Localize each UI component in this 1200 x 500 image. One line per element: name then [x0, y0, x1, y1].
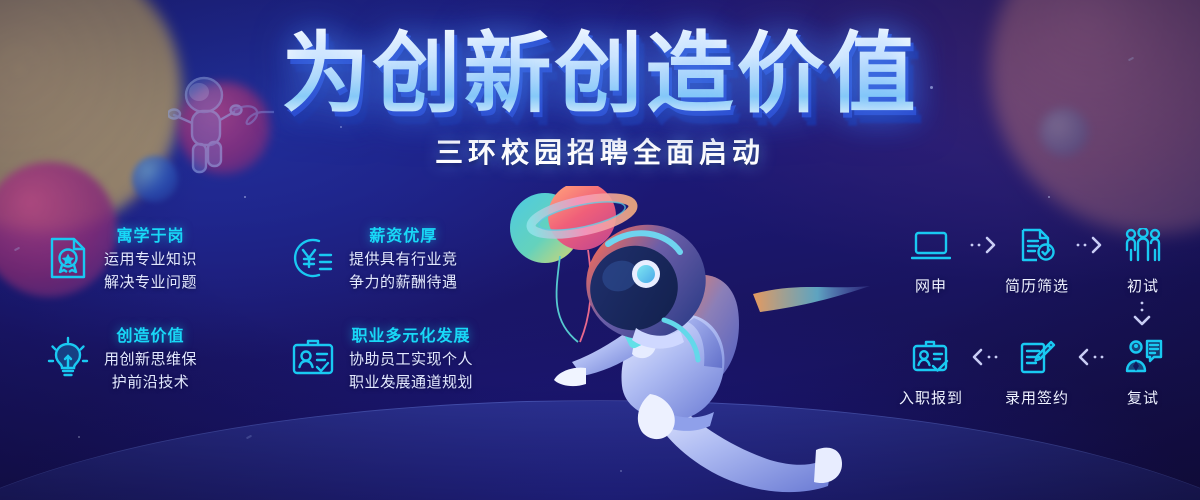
chevron-left-dots-icon — [966, 336, 1002, 366]
feature-heading: 薪资优厚 — [369, 222, 437, 246]
feature-item: 薪资优厚 提供具有行业竞 争力的薪酬待遇 — [289, 222, 504, 294]
process-step-online-application: 网申 — [896, 224, 966, 296]
star — [78, 436, 80, 438]
yen-salary-icon — [289, 234, 337, 282]
star — [1048, 196, 1050, 198]
feature-heading: 职业多元化发展 — [352, 322, 471, 346]
feature-line: 提供具有行业竞 — [349, 249, 458, 272]
feature-line: 护前沿技术 — [112, 372, 190, 395]
process-step-label: 简历筛选 — [1005, 275, 1069, 296]
badge-person-check-icon — [909, 336, 953, 378]
recruitment-banner: 为创新创造价值 三环校园招聘全面启动 寓学于岗 运用专业知识 解决专业问题 — [0, 0, 1200, 500]
feature-item: 寓学于岗 运用专业知识 解决专业问题 — [44, 222, 259, 294]
feature-heading: 寓学于岗 — [117, 222, 185, 246]
chevron-right-dots-icon — [1072, 224, 1108, 254]
chevron-left-dots-icon — [1072, 336, 1108, 366]
process-step-resume-screening: 简历筛选 — [1002, 224, 1072, 296]
feature-line: 用创新思维保 — [104, 349, 197, 372]
sub-title: 三环校园招聘全面启动 — [0, 131, 1200, 171]
lightbulb-idea-icon — [44, 334, 92, 382]
feature-text: 创造价值 用创新思维保 护前沿技术 — [104, 322, 197, 394]
process-step-first-interview: 初试 — [1108, 224, 1178, 296]
title-block: 为创新创造价值 三环校园招聘全面启动 — [0, 26, 1200, 171]
certificate-document-icon — [44, 234, 92, 282]
process-row-bottom: 入职报到 录用签约 — [896, 336, 1178, 408]
dust-streak — [246, 435, 252, 440]
people-group-icon — [1121, 224, 1165, 266]
floating-astronaut-illustration — [498, 186, 878, 500]
chevron-right-dots-icon — [966, 224, 1002, 254]
dust-streak — [14, 247, 20, 252]
feature-line: 运用专业知识 — [104, 249, 197, 272]
id-card-check-icon — [289, 334, 337, 382]
feature-line: 职业发展通道规划 — [349, 372, 473, 395]
feature-text: 薪资优厚 提供具有行业竞 争力的薪酬待遇 — [349, 222, 458, 294]
resume-check-icon — [1015, 224, 1059, 266]
process-step-second-interview: 复试 — [1108, 336, 1178, 408]
feature-line: 争力的薪酬待遇 — [349, 272, 458, 295]
chevron-down-dots-icon — [896, 300, 1178, 330]
feature-text: 寓学于岗 运用专业知识 解决专业问题 — [104, 222, 197, 294]
feature-item: 职业多元化发展 协助员工实现个人 职业发展通道规划 — [289, 322, 504, 394]
laptop-icon — [909, 224, 953, 266]
contract-pen-icon — [1015, 336, 1059, 378]
process-step-label: 网申 — [915, 275, 947, 296]
feature-list: 寓学于岗 运用专业知识 解决专业问题 薪资优厚 提供具有行业竞 争力的薪酬待遇 — [44, 222, 504, 394]
process-step-label: 录用签约 — [1005, 387, 1069, 408]
feature-line: 协助员工实现个人 — [349, 349, 473, 372]
feature-item: 创造价值 用创新思维保 护前沿技术 — [44, 322, 259, 394]
process-step-label: 复试 — [1127, 387, 1159, 408]
interview-person-icon — [1121, 336, 1165, 378]
feature-text: 职业多元化发展 协助员工实现个人 职业发展通道规划 — [349, 322, 473, 394]
feature-line: 解决专业问题 — [104, 272, 197, 295]
process-step-onboarding: 入职报到 — [896, 336, 966, 408]
process-step-offer-signing: 录用签约 — [1002, 336, 1072, 408]
process-step-label: 初试 — [1127, 275, 1159, 296]
feature-heading: 创造价值 — [117, 322, 185, 346]
recruitment-process-flow: 网申 — [896, 224, 1178, 408]
process-row-top: 网申 — [896, 224, 1178, 296]
star — [244, 196, 246, 198]
main-title: 为创新创造价值 — [0, 26, 1200, 121]
process-step-label: 入职报到 — [899, 387, 963, 408]
